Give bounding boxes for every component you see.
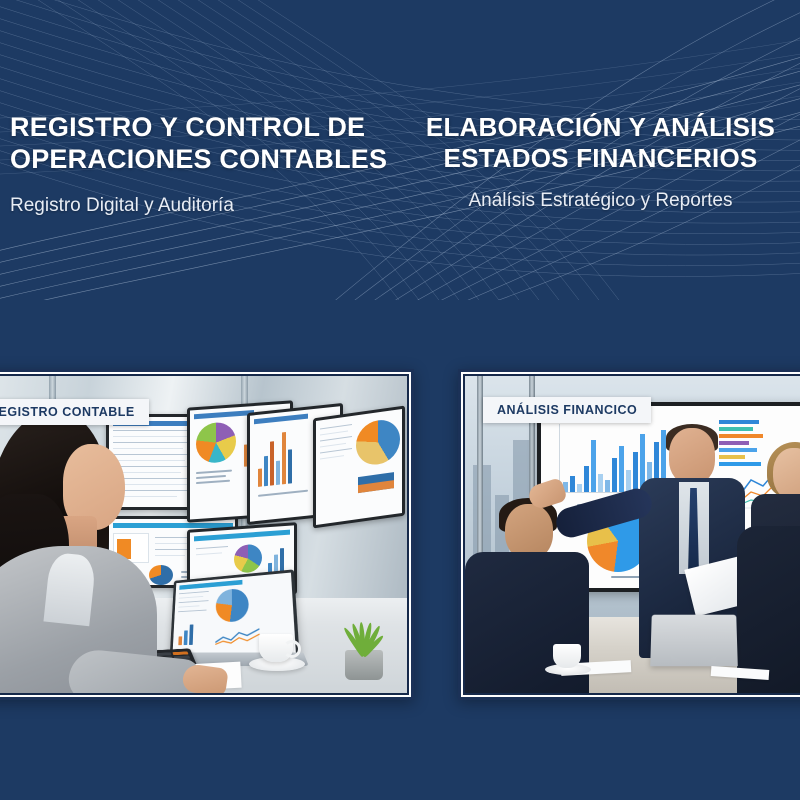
monitor-big-pie (313, 406, 405, 529)
potted-plant (335, 616, 391, 680)
coffee-cup-meeting (553, 644, 581, 668)
badge-analisis-financiero: ANÁLISIS FINANCICO (483, 397, 651, 423)
page-title-left: REGISTRO Y CONTROL DE OPERACIONES CONTAB… (10, 112, 395, 176)
image-card-right: ANÁLISIS FINANCICO (458, 369, 800, 700)
left-heading-column: REGISTRO Y CONTROL DE OPERACIONES CONTAB… (10, 112, 395, 218)
page-subtitle-left: Registro Digital y Auditoría (10, 194, 395, 219)
person-accountant (0, 404, 151, 693)
badge-registro-contable: REGISTRO CONTABLE (0, 399, 149, 425)
meeting-laptop (650, 615, 738, 667)
image-card-left: REGISTRO CONTABLE (0, 369, 414, 700)
page-title-right: ELABORACIÓN Y ANÁLISIS ESTADOS FINANCERI… (408, 112, 793, 173)
coffee-cup (259, 634, 293, 662)
photo-analisis-financiero (465, 376, 800, 693)
right-heading-column: ELABORACIÓN Y ANÁLISIS ESTADOS FINANCERI… (408, 112, 793, 214)
headings-row: REGISTRO Y CONTROL DE OPERACIONES CONTAB… (0, 112, 800, 292)
page-subtitle-right: Análísis Estratégico y Reportes (408, 189, 793, 214)
slide-root: REGISTRO Y CONTROL DE OPERACIONES CONTAB… (0, 0, 800, 800)
